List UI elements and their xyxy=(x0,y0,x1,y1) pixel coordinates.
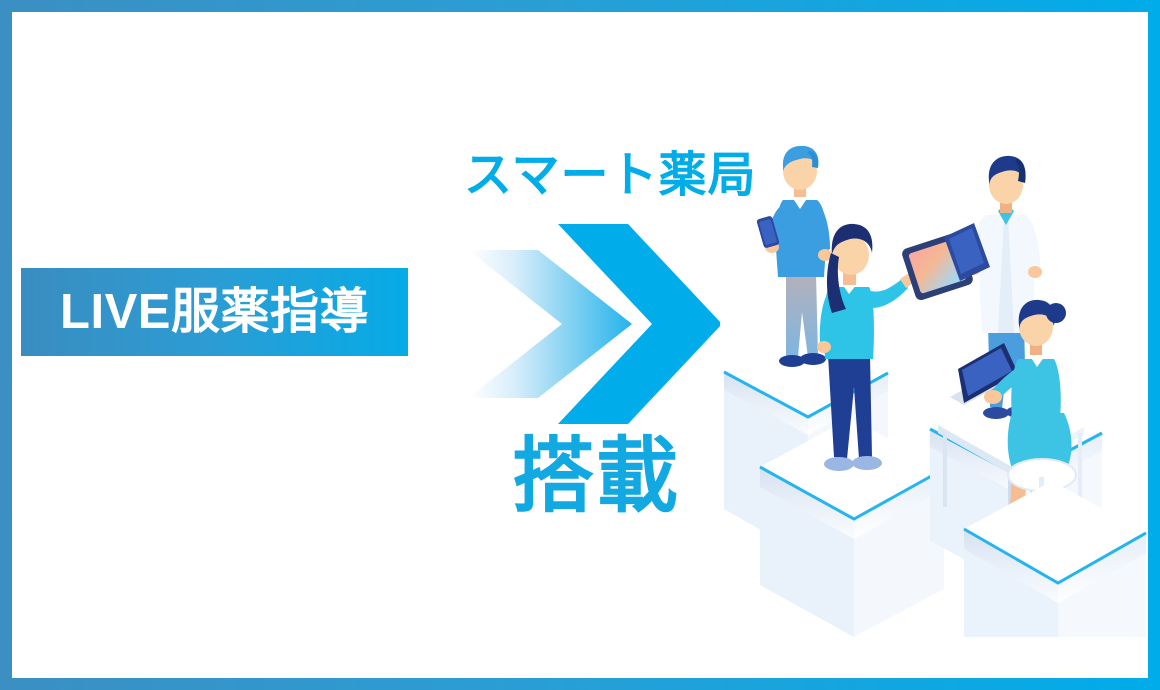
promo-banner: LIVE服薬指導 スマート薬局 搭 xyxy=(0,0,1160,690)
isometric-pharmacy-staff-scene xyxy=(712,137,1148,637)
equipped-label: 搭載 xyxy=(512,436,680,518)
double-chevron-right-icon xyxy=(464,224,720,424)
banner-content-area: LIVE服薬指導 スマート薬局 搭 xyxy=(12,12,1148,678)
badge-label: LIVE服薬指導 xyxy=(60,288,369,337)
live-medication-guidance-badge: LIVE服薬指導 xyxy=(21,268,408,356)
